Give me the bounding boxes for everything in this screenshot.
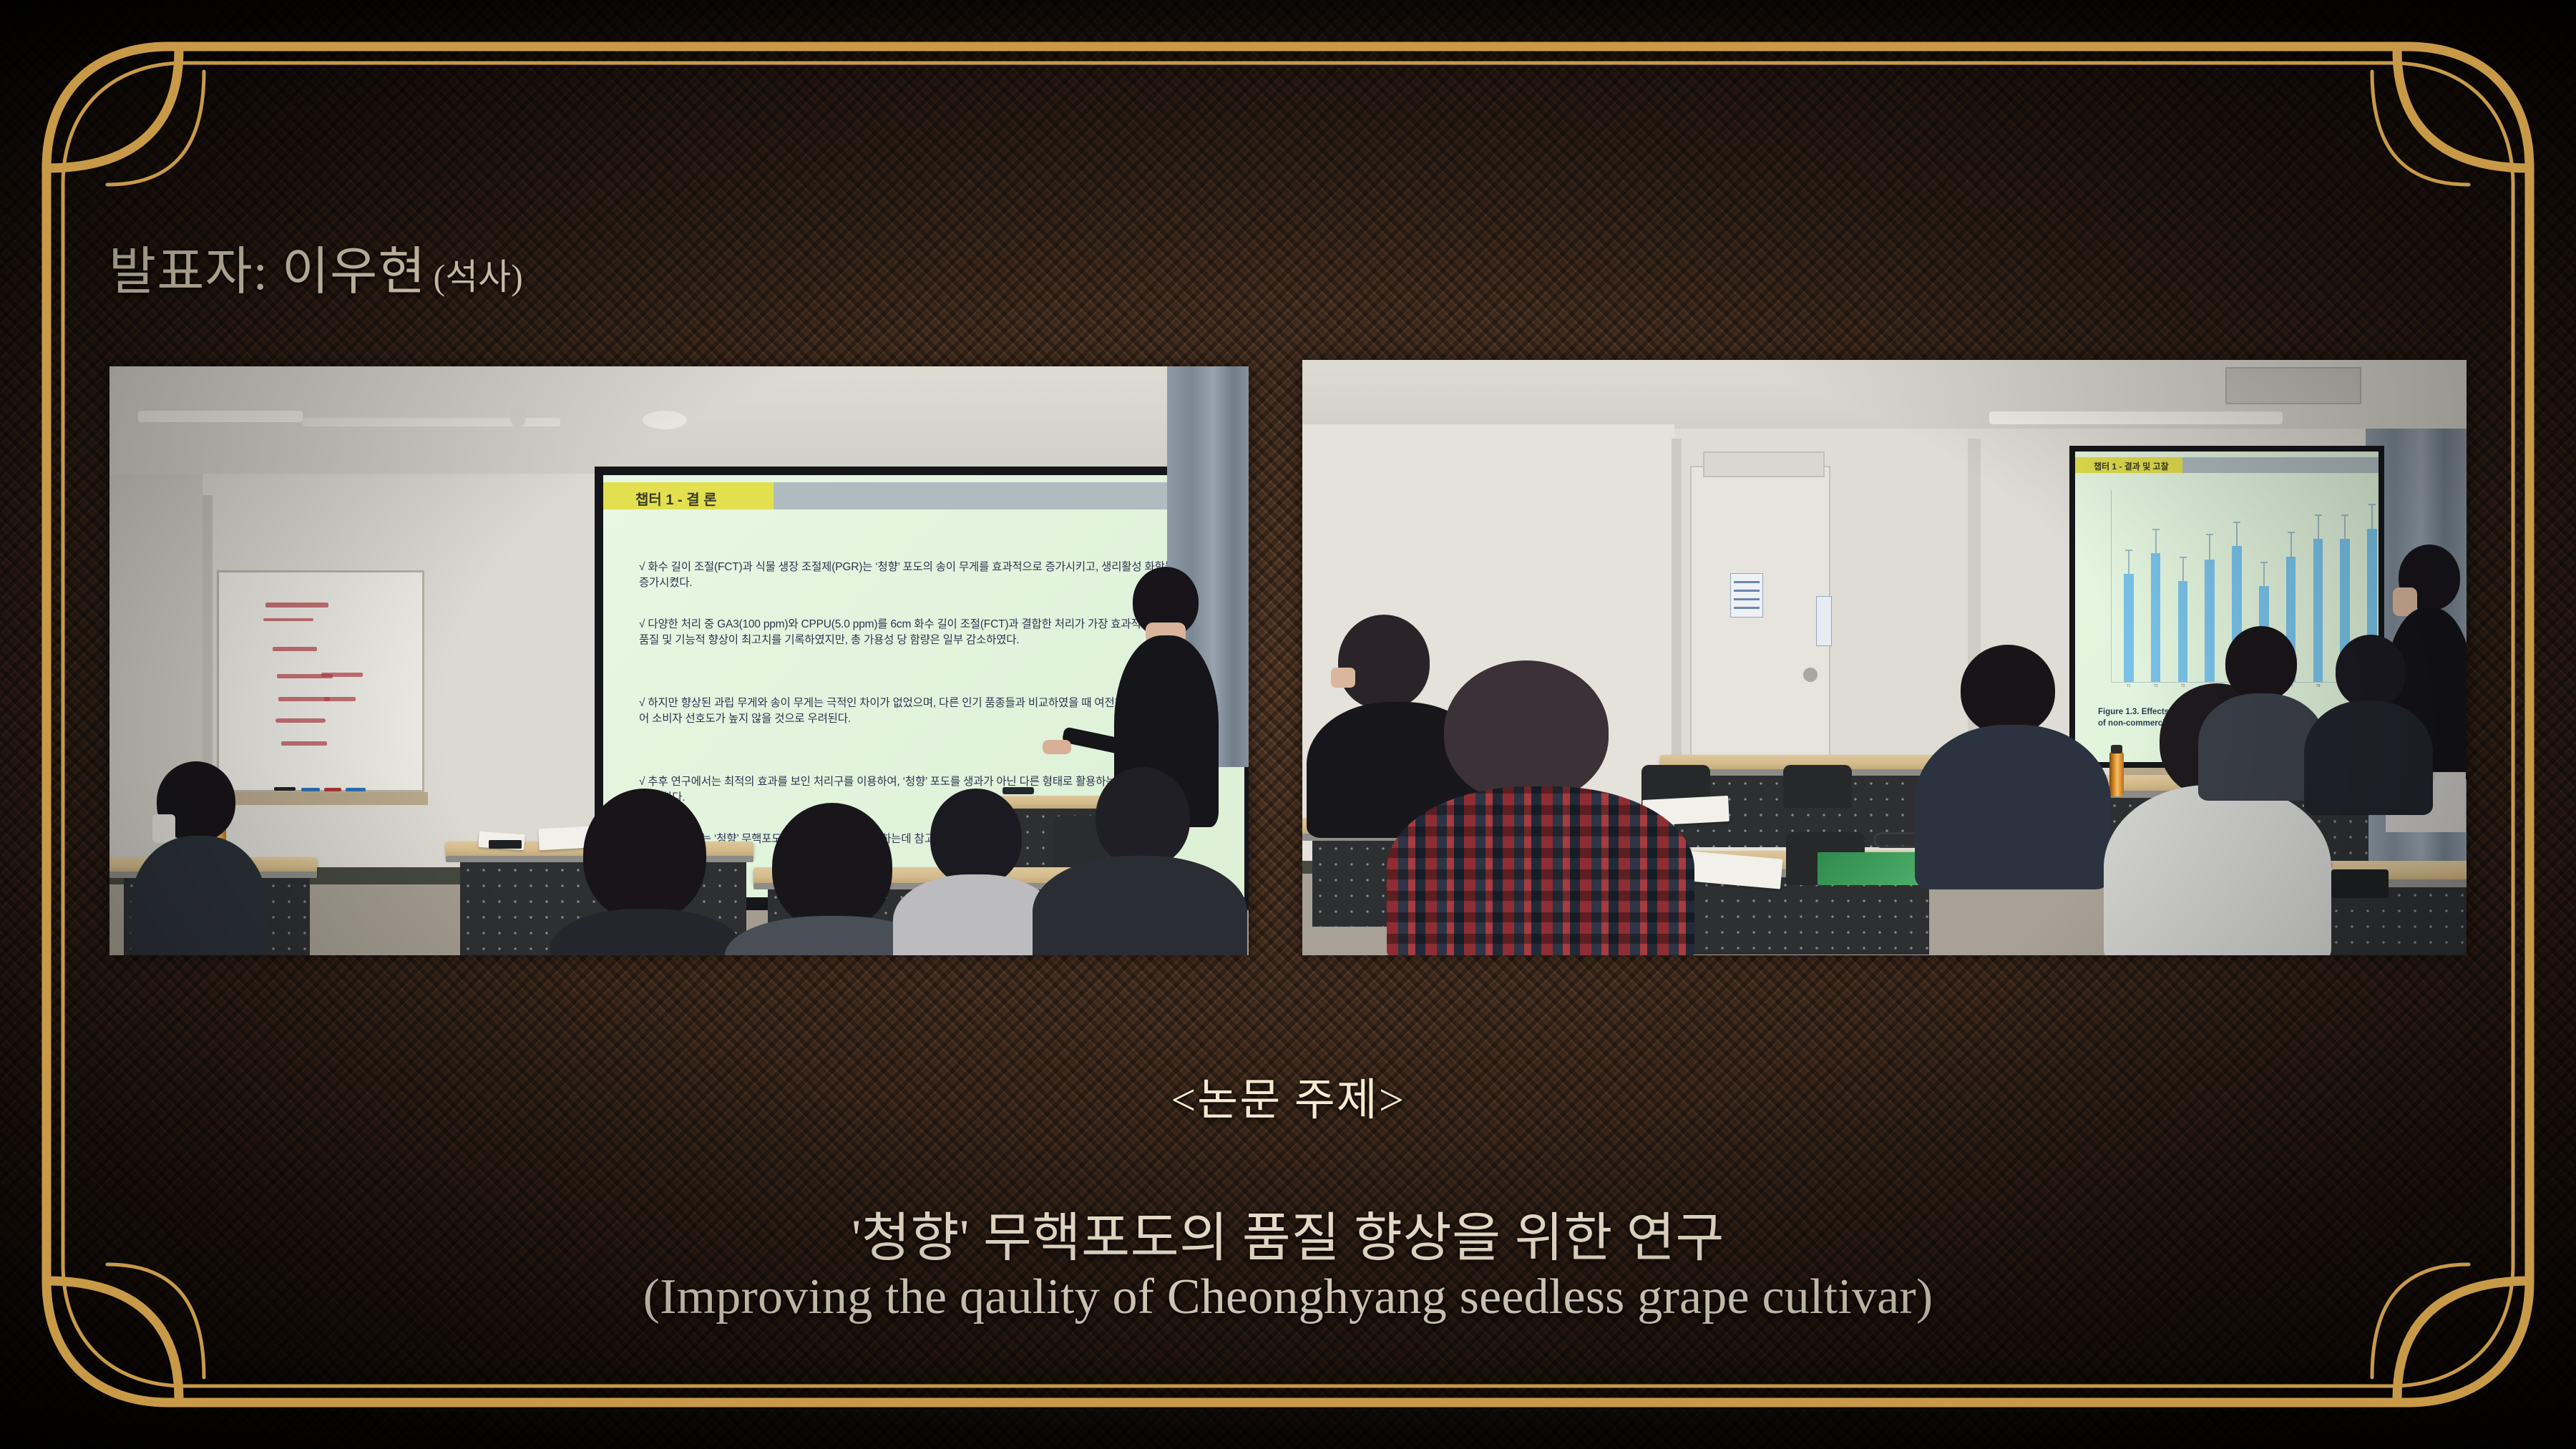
audience-r3 <box>1915 645 2108 888</box>
chart-error-bar <box>2236 522 2238 546</box>
thesis-title-korean: '청향' 무핵포도의 품질 향상을 위한 연구 <box>0 1209 2576 1269</box>
chart-error-bar <box>2263 562 2265 586</box>
chart-error-cap <box>2341 514 2348 516</box>
presenter-degree: (석사) <box>433 257 522 297</box>
audience-2 <box>546 789 739 955</box>
chart-bar <box>2178 581 2188 682</box>
chart-error-cap <box>2260 562 2268 563</box>
right-photo: 챕터 1 - 결과 및 고찰 T1T2T3T4T5T6T7T8T9T10 Fig… <box>1302 360 2467 955</box>
chart-bar <box>2151 553 2161 682</box>
chart-error-cap <box>2206 534 2213 535</box>
chart-error-cap <box>2152 529 2160 530</box>
chart-error-cap <box>2233 522 2240 523</box>
chart-error-cap <box>2125 550 2132 551</box>
subject-heading: <논문 주제> <box>0 1063 2576 1128</box>
chart-error-cap <box>2288 532 2295 533</box>
chart-error-bar <box>2371 504 2373 528</box>
left-photo: 챕터 1 - 결 론 √ 화수 길이 조절(FCT)과 식물 생장 조절제(PG… <box>109 366 1249 955</box>
chart-error-bar <box>2182 557 2184 581</box>
chart-error-cap <box>2315 514 2322 516</box>
chart-error-bar <box>2128 550 2129 574</box>
right-slide-header: 챕터 1 - 결과 및 고찰 <box>2094 460 2169 472</box>
thesis-title-block: '청향' 무핵포도의 품질 향상을 위한 연구 (Improving the q… <box>0 1209 2576 1326</box>
chart-error-bar <box>2344 514 2346 539</box>
audience-r6 <box>2304 635 2433 814</box>
chart-error-bar <box>2318 514 2319 539</box>
chart-error-bar <box>2209 534 2210 560</box>
presenter-name: 발표자: 이우현 <box>109 243 426 301</box>
slide-canvas: 챕터 1 - 결 론 √ 화수 길이 조절(FCT)과 식물 생장 조절제(PG… <box>0 0 2576 1449</box>
thesis-title-english: (Improving the qaulity of Cheonghyang se… <box>0 1269 2576 1326</box>
audience-1 <box>137 761 258 955</box>
chart-error-bar <box>2155 529 2157 553</box>
presenter-line: 발표자: 이우현(석사) <box>109 229 523 304</box>
left-slide-header: 챕터 1 - 결 론 <box>635 488 717 509</box>
chart-error-bar <box>2290 532 2292 556</box>
audience-r2 <box>1387 660 1687 955</box>
chart-error-cap <box>2368 504 2376 505</box>
chart-y-axis <box>2111 490 2112 682</box>
audience-5 <box>1033 767 1240 955</box>
chart-error-cap <box>2180 557 2187 558</box>
chart-bar <box>2124 574 2134 682</box>
